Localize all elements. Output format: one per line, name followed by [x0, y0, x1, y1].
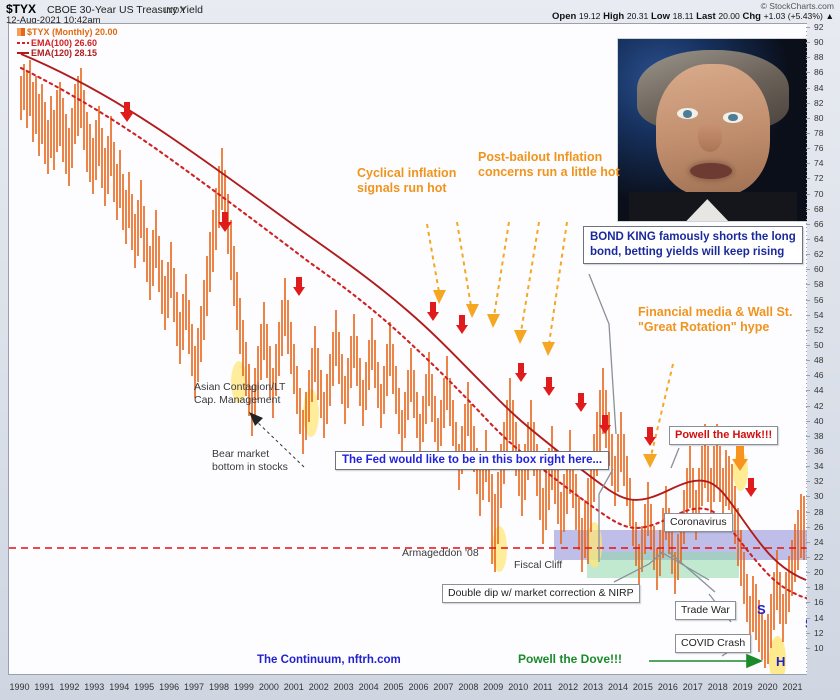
y-axis-tick-label: 38	[814, 432, 823, 440]
callout-bond-king[interactable]: BOND KING famously shorts the long bond,…	[583, 226, 803, 264]
last-label: Last	[696, 11, 716, 22]
y-axis-tick-mark	[806, 163, 810, 164]
highlight-2012	[587, 522, 602, 568]
y-axis-tick-mark	[806, 27, 810, 28]
x-axis-tick-label: 1994	[109, 682, 129, 692]
annotation-bear-bottom: Bear market bottom in stocks	[212, 448, 288, 474]
watermark-nftrh: The Continuum, nftrh.com	[257, 654, 401, 666]
y-axis-tick-label: 60	[814, 265, 823, 273]
callout-trade-war[interactable]: Trade War	[675, 601, 736, 620]
symbol-ticker: $TYX	[6, 2, 36, 16]
y-axis-tick-mark	[806, 557, 810, 558]
callout-powell-hawk[interactable]: Powell the Hawk!!!	[669, 426, 778, 445]
photo-iris-right	[728, 114, 738, 122]
y-axis-tick-mark	[806, 269, 810, 270]
annotation-powell-dove: Powell the Dove!!!	[518, 652, 622, 666]
y-axis-tick-mark	[806, 542, 810, 543]
highlight-2018	[733, 451, 748, 491]
y-axis-tick-label: 48	[814, 356, 823, 364]
y-axis-tick-mark	[806, 194, 810, 195]
y-axis-tick-mark	[806, 390, 810, 391]
y-axis-tick-mark	[806, 466, 810, 467]
y-axis-tick-label: 70	[814, 190, 823, 198]
x-axis-tick-label: 2021	[783, 682, 803, 692]
chg-up-arrow-icon: ▲	[825, 11, 834, 21]
y-axis-tick-mark	[806, 178, 810, 179]
x-axis-tick-label: 2001	[284, 682, 304, 692]
y-axis-tick-label: 30	[814, 492, 823, 500]
highlight-2002	[303, 389, 319, 437]
price-chart-plot[interactable]: $TYX (Monthly) 20.00 EMA(100) 26.60 EMA(…	[8, 23, 807, 675]
y-axis-tick-mark	[806, 648, 810, 649]
bill-gross-photo	[617, 38, 807, 222]
y-axis-tick-label: 36	[814, 447, 823, 455]
y-axis-tick-mark	[806, 527, 810, 528]
powell-dove-arrow	[649, 655, 761, 667]
y-axis-tick-mark	[806, 224, 810, 225]
callout-covid-crash[interactable]: COVID Crash	[675, 634, 751, 653]
legend-price-row: $TYX (Monthly) 20.00	[17, 27, 118, 38]
double-dip-zone	[587, 552, 739, 578]
y-axis-tick-label: 92	[814, 23, 823, 31]
x-axis-tick-label: 2016	[658, 682, 678, 692]
y-axis-tick-label: 20	[814, 568, 823, 576]
y-axis-tick-label: 68	[814, 205, 823, 213]
y-axis-tick-mark	[806, 57, 810, 58]
x-axis-tick-label: 2005	[384, 682, 404, 692]
y-axis-tick-mark	[806, 375, 810, 376]
y-axis-tick-mark	[806, 618, 810, 619]
annotation-asian-contagion: Asian Contagion/LT Cap. Management	[194, 381, 285, 407]
x-axis-tick-label: 1995	[134, 682, 154, 692]
y-axis-tick-mark	[806, 254, 810, 255]
x-axis-tick-label: 2010	[508, 682, 528, 692]
marker-h-2020: H	[776, 654, 785, 669]
open-label: Open	[552, 11, 576, 22]
x-axis-tick-label: 2003	[334, 682, 354, 692]
x-axis-tick-label: 1999	[234, 682, 254, 692]
x-axis-tick-label: 2018	[708, 682, 728, 692]
y-axis-tick-label: 84	[814, 84, 823, 92]
chg-value: +1.03 (+5.43%)	[764, 11, 823, 21]
y-axis-tick-label: 50	[814, 341, 823, 349]
annotation-cyclical-inflation: Cyclical inflation signals run hot	[357, 166, 456, 196]
y-axis-tick-label: 12	[814, 629, 823, 637]
stockcharts-screenshot: $TYX CBOE 30-Year US Treasury Yield INDX…	[0, 0, 840, 700]
x-axis-tick-label: 2002	[309, 682, 329, 692]
x-axis-tick-label: 2007	[433, 682, 453, 692]
y-axis-tick-mark	[806, 315, 810, 316]
y-axis-tick-mark	[806, 88, 810, 89]
y-axis-tick-mark	[806, 421, 810, 422]
solid-line-icon	[17, 52, 29, 54]
photo-iris-left	[683, 110, 693, 118]
y-axis-tick-label: 40	[814, 417, 823, 425]
y-axis-tick-mark	[806, 209, 810, 210]
y-axis-tick-label: 16	[814, 598, 823, 606]
y-axis-tick-mark	[806, 103, 810, 104]
last-value: 20.00	[718, 11, 740, 21]
y-axis-tick-label: 82	[814, 99, 823, 107]
x-axis-tick-label: 1996	[159, 682, 179, 692]
low-value: 18.11	[673, 11, 694, 21]
callout-coronavirus[interactable]: Coronavirus	[664, 513, 733, 532]
y-axis-tick-label: 66	[814, 220, 823, 228]
y-axis-tick-label: 54	[814, 311, 823, 319]
y-axis-tick-mark	[806, 587, 810, 588]
y-axis-tick-mark	[806, 330, 810, 331]
quote-bar: Open 19.12 High 20.31 Low 18.11 Last 20.…	[552, 11, 834, 22]
y-axis-tick-label: 24	[814, 538, 823, 546]
y-axis-tick-label: 28	[814, 508, 823, 516]
y-axis-tick-mark	[806, 239, 810, 240]
y-axis-tick-mark	[806, 512, 810, 513]
y-axis-rule	[806, 23, 807, 673]
y-axis-tick-mark	[806, 496, 810, 497]
x-axis-tick-label: 2013	[583, 682, 603, 692]
y-axis-tick-mark	[806, 360, 810, 361]
x-axis-tick-label: 2015	[633, 682, 653, 692]
y-axis-tick-label: 18	[814, 583, 823, 591]
symbol-exchange: INDX	[164, 5, 186, 15]
y-axis-tick-label: 44	[814, 386, 823, 394]
bear-bottom-arrowhead	[249, 412, 263, 426]
photo-mouth	[690, 163, 732, 179]
dotted-line-icon	[17, 42, 29, 44]
y-axis-tick-label: 34	[814, 462, 823, 470]
legend-ema120-label: EMA(120) 28.15	[31, 48, 97, 58]
x-axis-tick-label: 1991	[34, 682, 54, 692]
y-axis-tick-mark	[806, 633, 810, 634]
x-axis-tick-label: 2020	[758, 682, 778, 692]
x-axis-tick-label: 2012	[558, 682, 578, 692]
y-axis-tick-mark	[806, 406, 810, 407]
chart-header: $TYX CBOE 30-Year US Treasury Yield INDX…	[0, 0, 840, 22]
y-axis-tick-label: 32	[814, 477, 823, 485]
y-axis-tick-label: 72	[814, 174, 823, 182]
y-axis-tick-label: 62	[814, 250, 823, 258]
y-axis-tick-mark	[806, 72, 810, 73]
y-axis-tick-label: 26	[814, 523, 823, 531]
y-axis-tick-mark	[806, 148, 810, 149]
x-axis-tick-label: 1992	[59, 682, 79, 692]
y-axis-tick-label: 76	[814, 144, 823, 152]
y-axis-tick-label: 56	[814, 296, 823, 304]
y-axis-tick-label: 90	[814, 38, 823, 46]
x-axis-tick-label: 1997	[184, 682, 204, 692]
y-axis-tick-mark	[806, 133, 810, 134]
inflation-arrow-heads	[433, 290, 657, 468]
y-axis-tick-label: 80	[814, 114, 823, 122]
annotation-fiscal-cliff: Fiscal Cliff	[514, 559, 562, 572]
y-axis-tick-mark	[806, 602, 810, 603]
legend-price-label: $TYX (Monthly) 20.00	[27, 27, 118, 37]
y-axis-tick-label: 78	[814, 129, 823, 137]
y-axis-tick-label: 46	[814, 371, 823, 379]
high-value: 20.31	[627, 11, 649, 21]
y-axis-tick-mark	[806, 572, 810, 573]
y-axis-tick-mark	[806, 436, 810, 437]
y-axis-tick-label: 10	[814, 644, 823, 652]
callout-double-dip[interactable]: Double dip w/ market correction & NIRP	[442, 584, 640, 603]
x-axis-tick-label: 1993	[84, 682, 104, 692]
open-value: 19.12	[579, 11, 601, 21]
highlight-2008	[492, 526, 507, 572]
chg-label: Chg	[742, 11, 760, 22]
legend-ema100-label: EMA(100) 26.60	[31, 38, 97, 48]
photo-nose	[698, 123, 723, 152]
annotation-armageddon: Armageddon '08	[402, 547, 479, 560]
y-axis-tick-label: 64	[814, 235, 823, 243]
y-axis: 9290888684828078767472706866646260585654…	[806, 23, 840, 673]
x-axis-tick-label: 1990	[9, 682, 29, 692]
y-axis-tick-label: 86	[814, 68, 823, 76]
price-bar-icon	[17, 28, 25, 36]
y-axis-tick-mark	[806, 284, 810, 285]
x-axis-tick-label: 2008	[458, 682, 478, 692]
legend-ema120-row: EMA(120) 28.15	[17, 48, 118, 59]
y-axis-tick-label: 42	[814, 402, 823, 410]
x-axis-tick-label: 2017	[683, 682, 703, 692]
y-axis-tick-label: 88	[814, 53, 823, 61]
y-axis-tick-mark	[806, 345, 810, 346]
y-axis-tick-mark	[806, 300, 810, 301]
legend-ema100-row: EMA(100) 26.60	[17, 38, 118, 49]
y-axis-tick-mark	[806, 42, 810, 43]
x-axis: 1990199119921993199419951996199719981999…	[8, 674, 840, 700]
y-axis-tick-mark	[806, 481, 810, 482]
x-axis-tick-label: 1998	[209, 682, 229, 692]
stockcharts-credit: © StockCharts.com	[761, 1, 834, 11]
x-axis-tick-label: 2014	[608, 682, 628, 692]
x-axis-tick-label: 2000	[259, 682, 279, 692]
chart-legend: $TYX (Monthly) 20.00 EMA(100) 26.60 EMA(…	[17, 27, 118, 59]
marker-s-2019: S	[757, 602, 766, 617]
x-axis-tick-label: 2011	[533, 682, 552, 692]
y-axis-tick-label: 74	[814, 159, 823, 167]
high-label: High	[603, 11, 624, 22]
y-axis-tick-label: 14	[814, 614, 823, 622]
x-axis-tick-label: 2009	[483, 682, 503, 692]
y-axis-tick-mark	[806, 451, 810, 452]
x-axis-tick-label: 2006	[408, 682, 428, 692]
x-axis-tick-label: 2004	[359, 682, 379, 692]
annotation-post-bailout: Post-bailout Inflation concerns run a li…	[478, 150, 620, 180]
y-axis-tick-label: 58	[814, 280, 823, 288]
annotation-financial-media: Financial media & Wall St. "Great Rotati…	[638, 305, 792, 335]
y-axis-tick-label: 52	[814, 326, 823, 334]
callout-fed-box[interactable]: The Fed would like to be in this box rig…	[335, 451, 609, 470]
y-axis-tick-mark	[806, 118, 810, 119]
y-axis-tick-label: 22	[814, 553, 823, 561]
x-axis-tick-label: 2019	[733, 682, 753, 692]
low-label: Low	[651, 11, 670, 22]
